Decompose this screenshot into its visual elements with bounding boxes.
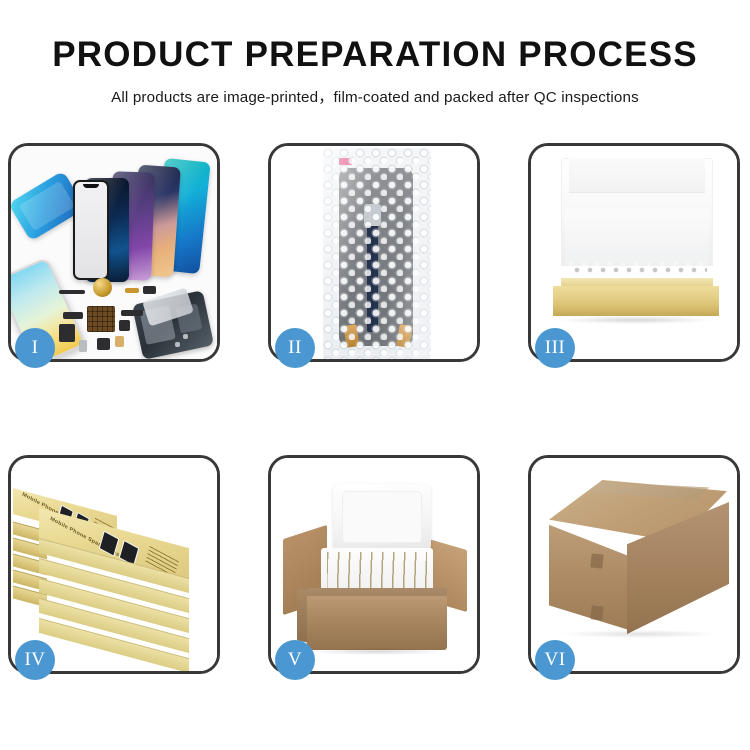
step-5-badge: V [275, 640, 315, 680]
process-step-grid: I II [0, 143, 750, 674]
gold-boxes-inside-icon [327, 552, 427, 590]
scene-carton-with-foam [271, 458, 477, 671]
part-gold-flex-icon [125, 288, 139, 293]
bubble-wrap-bag [323, 148, 431, 359]
foam-box-lid-icon [333, 484, 431, 552]
spare-parts-group [59, 284, 189, 358]
step-4-badge: IV [15, 640, 55, 680]
part-ic-icon [119, 320, 130, 331]
bag-sheen [323, 148, 431, 359]
step-2-badge: II [275, 328, 315, 368]
sealed-carton-shadow [561, 630, 717, 638]
part-screw-b-icon [183, 334, 188, 339]
part-ribbon-icon [121, 310, 143, 316]
chip-array-icon [87, 306, 115, 332]
speaker-coil-icon [93, 278, 112, 297]
part-strip-icon [59, 290, 85, 294]
part-button-icon [143, 286, 156, 294]
carton-seam-upper [590, 553, 603, 568]
scene-phone-parts [11, 146, 217, 359]
kraft-box-front [553, 286, 719, 316]
step-6-image [531, 458, 737, 671]
step-3-badge: III [535, 328, 575, 368]
step-2-image [271, 146, 477, 359]
step-1-image [11, 146, 217, 359]
part-sim-tray-icon [79, 340, 87, 352]
box-interior [565, 208, 709, 266]
carton-seam-lower [590, 605, 603, 620]
process-step-5[interactable]: V [268, 455, 480, 674]
process-row-top: I II [0, 143, 750, 362]
part-sticker-icon [115, 336, 124, 347]
step-3-image [531, 146, 737, 359]
process-step-6[interactable]: VI [528, 455, 740, 674]
page-header: PRODUCT PREPARATION PROCESS All products… [0, 0, 750, 107]
step-4-image: Mobile Phone Spare Parts M [11, 458, 217, 671]
process-step-2[interactable]: II [268, 143, 480, 362]
part-camera-icon [59, 324, 75, 342]
process-step-3[interactable]: III [528, 143, 740, 362]
part-screw-icon [175, 342, 180, 347]
step-1-badge: I [15, 328, 55, 368]
phone-glass-front-icon [73, 180, 109, 280]
box-shadow [559, 316, 713, 324]
step-6-badge: VI [535, 640, 575, 680]
scene-open-kraft-box [531, 146, 737, 359]
carton-shadow [311, 648, 445, 655]
scene-sealed-carton [531, 458, 737, 671]
carton-front-icon [307, 588, 447, 650]
page-subtitle: All products are image-printed，film-coat… [0, 85, 750, 107]
page-title: PRODUCT PREPARATION PROCESS [0, 34, 750, 76]
scene-stacked-boxes: Mobile Phone Spare Parts M [11, 458, 217, 671]
sealed-carton-left-face [549, 518, 629, 630]
step-5-image [271, 458, 477, 671]
process-step-4[interactable]: Mobile Phone Spare Parts M [8, 455, 220, 674]
part-vibrator-icon [97, 338, 110, 350]
process-step-1[interactable]: I [8, 143, 220, 362]
scene-bubble-wrapped-screen [271, 146, 477, 359]
process-row-bottom: Mobile Phone Spare Parts M [0, 455, 750, 674]
part-connector-icon [63, 312, 83, 319]
